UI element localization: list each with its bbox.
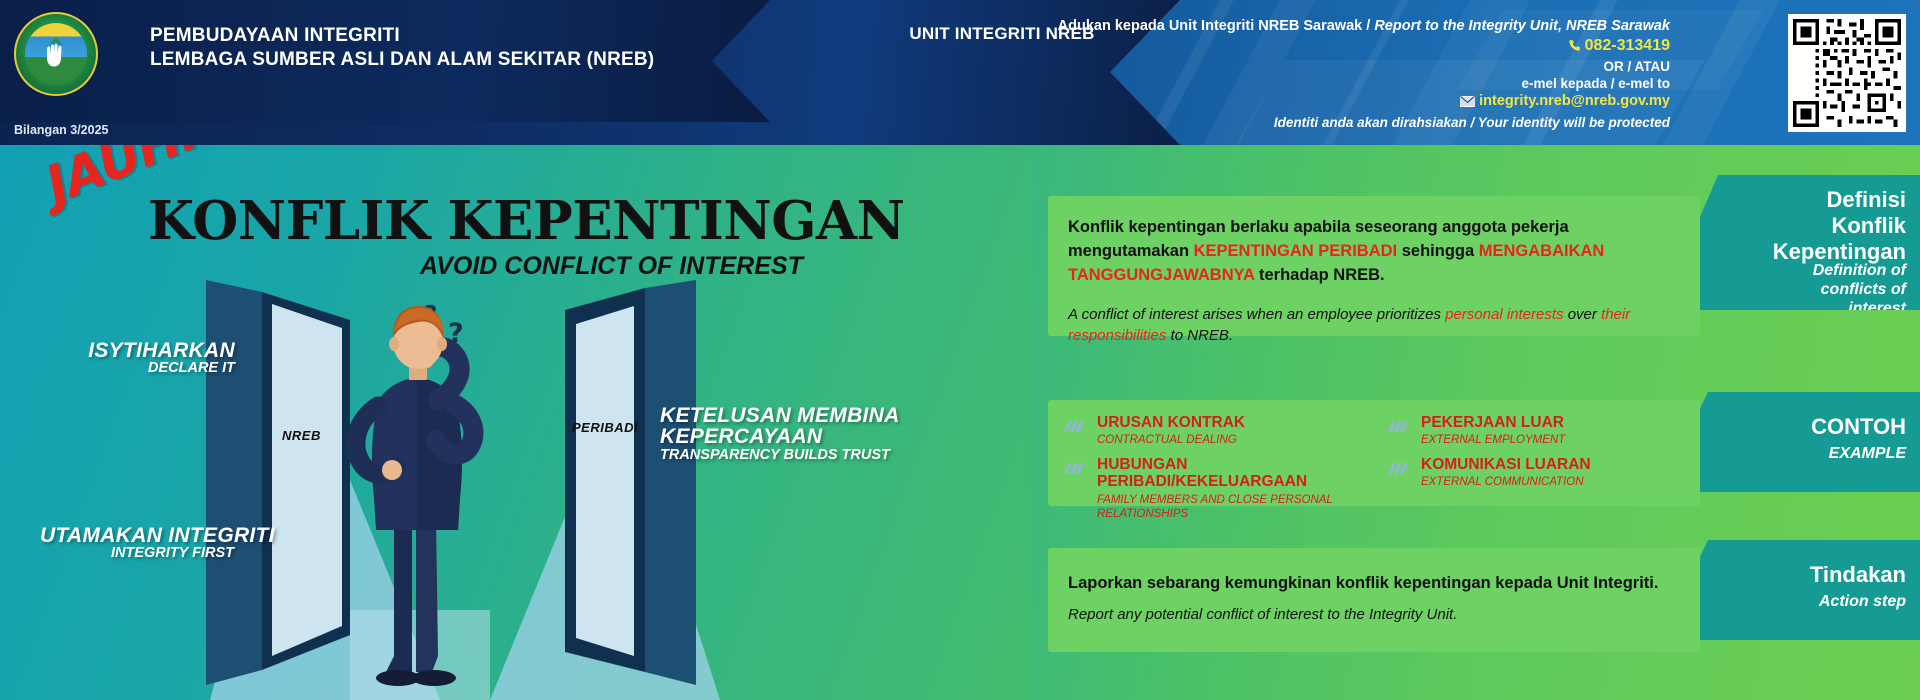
header-confidential-note: Identiti anda akan dirahsiakan / Your id…	[1030, 115, 1670, 130]
triple-slash-bullet-icon	[1390, 414, 1412, 447]
example-label-english: EXTERNAL EMPLOYMENT	[1421, 433, 1565, 447]
example-label-malay: KOMUNIKASI LUARAN	[1421, 456, 1591, 473]
label-integrity-first: UTAMAKAN INTEGRITI INTEGRITY FIRST	[40, 525, 300, 561]
door-label-right: PERIBADI	[572, 420, 638, 435]
definition-my-part2: sehingga	[1397, 242, 1479, 260]
side-tab-example-subtitle: EXAMPLE	[1829, 444, 1906, 463]
header-email-label: e-mel kepada / e-mel to	[1030, 76, 1670, 91]
phone-icon	[1568, 39, 1581, 57]
label-transparency-builds-trust: KETELUSAN MEMBINA KEPERCAYAAN TRANSPAREN…	[660, 405, 960, 463]
page-title: KONFLIK KEPENTINGAN	[148, 190, 905, 252]
label-declare-it-english: DECLARE IT	[55, 361, 235, 376]
definition-en-highlight1: personal interests	[1445, 306, 1563, 323]
side-tab-definition-subtitle: Definition of conflicts of interest	[1813, 261, 1906, 319]
header-contact-block: Adukan kepada Unit Integriti NREB Sarawa…	[1030, 18, 1670, 130]
nreb-crest-icon	[14, 12, 98, 96]
hand-and-plant-icon	[41, 33, 71, 71]
definition-en-part2: over	[1564, 306, 1602, 323]
definition-my-highlight1: KEPENTINGAN PERIBADI	[1194, 242, 1398, 260]
action-text-malay: Laporkan sebarang kemungkinan konflik ke…	[1068, 574, 1658, 593]
side-tab-definition-title: Definisi Konflik Kepentingan	[1773, 187, 1906, 265]
triple-slash-bullet-icon	[1066, 414, 1088, 447]
definition-my-part3: terhadap NREB.	[1254, 266, 1384, 284]
header-phone[interactable]: 082-313419	[1030, 37, 1670, 57]
side-tab-definition-title-line2: Konflik	[1773, 213, 1906, 239]
example-label-english: CONTRACTUAL DEALING	[1097, 433, 1245, 447]
side-tab-definition-title-line1: Definisi	[1773, 187, 1906, 213]
side-tab-definition-subtitle-line2: conflicts of	[1813, 280, 1906, 299]
header-phone-number: 082-313419	[1585, 37, 1670, 54]
header-or-line: OR / ATAU	[1030, 59, 1670, 74]
label-declare-it-malay: ISYTIHARKAN	[55, 340, 235, 361]
header-org-line1: PEMBUDAYAAN INTEGRITI	[150, 24, 654, 48]
definition-text-malay: Konflik kepentingan berlaku apabila sese…	[1068, 216, 1682, 287]
label-transparency-malay-line1: KETELUSAN MEMBINA	[660, 405, 960, 426]
example-item: HUBUNGAN PERIBADI/KEKELUARGAAN FAMILY ME…	[1066, 456, 1366, 521]
action-card: Laporkan sebarang kemungkinan konflik ke…	[1048, 548, 1700, 652]
header-report-line: Adukan kepada Unit Integriti NREB Sarawa…	[1030, 18, 1670, 34]
example-label-english: FAMILY MEMBERS AND CLOSE PERSONAL RELATI…	[1097, 493, 1366, 522]
definition-en-part1: A conflict of interest arises when an em…	[1068, 306, 1445, 323]
action-text-english: Report any potential conflict of interes…	[1068, 606, 1457, 623]
label-integrity-first-malay: UTAMAKAN INTEGRITI	[40, 525, 300, 546]
triple-slash-bullet-icon	[1066, 456, 1088, 521]
definition-card: Konflik kepentingan berlaku apabila sese…	[1048, 196, 1700, 336]
examples-column-right: PEKERJAAN LUAR EXTERNAL EMPLOYMENT KOMUN…	[1390, 414, 1690, 530]
header-org-line2: LEMBAGA SUMBER ASLI DAN ALAM SEKITAR (NR…	[150, 48, 654, 72]
examples-column-left: URUSAN KONTRAK CONTRACTUAL DEALING HUBUN…	[1066, 414, 1366, 530]
header-email-address: integrity.nreb@nreb.gov.my	[1479, 93, 1670, 109]
side-tab-example-title: CONTOH	[1811, 414, 1906, 440]
example-item: URUSAN KONTRAK CONTRACTUAL DEALING	[1066, 414, 1366, 447]
header-report-line-malay: Adukan kepada Unit Integriti NREB Sarawa…	[1058, 18, 1375, 34]
example-label-malay: PEKERJAAN LUAR	[1421, 414, 1565, 431]
example-item: PEKERJAAN LUAR EXTERNAL EMPLOYMENT	[1390, 414, 1690, 447]
side-tab-definition-subtitle-line1: Definition of	[1813, 261, 1906, 280]
header-report-line-english: Report to the Integrity Unit, NREB Saraw…	[1374, 18, 1670, 34]
definition-text-english: A conflict of interest arises when an em…	[1068, 304, 1682, 346]
example-label-malay: URUSAN KONTRAK	[1097, 414, 1245, 431]
example-item: KOMUNIKASI LUARAN EXTERNAL COMMUNICATION	[1390, 456, 1690, 489]
examples-grid: URUSAN KONTRAK CONTRACTUAL DEALING HUBUN…	[1066, 414, 1690, 530]
label-integrity-first-english: INTEGRITY FIRST	[40, 546, 300, 561]
label-declare-it: ISYTIHARKAN DECLARE IT	[55, 340, 235, 376]
label-transparency-english: TRANSPARENCY BUILDS TRUST	[660, 448, 960, 463]
infographic-poster: Definisi Konflik Kepentingan Definition …	[0, 0, 1920, 700]
bulletin-number: Bilangan 3/2025	[14, 123, 109, 137]
example-label-malay: HUBUNGAN PERIBADI/KEKELUARGAAN	[1097, 456, 1366, 490]
examples-card: URUSAN KONTRAK CONTRACTUAL DEALING HUBUN…	[1048, 400, 1700, 506]
label-transparency-malay-line2: KEPERCAYAAN	[660, 426, 960, 447]
header-email[interactable]: integrity.nreb@nreb.gov.my	[1030, 93, 1670, 111]
example-label-english: EXTERNAL COMMUNICATION	[1421, 475, 1591, 489]
qr-code-svg	[1793, 19, 1901, 127]
page-header: PEMBUDAYAAN INTEGRITI LEMBAGA SUMBER ASL…	[0, 0, 1920, 145]
side-tab-action-title: Tindakan	[1810, 562, 1906, 588]
side-tab-action-subtitle: Action step	[1819, 592, 1906, 611]
header-org-title: PEMBUDAYAAN INTEGRITI LEMBAGA SUMBER ASL…	[150, 24, 654, 73]
door-label-left: NREB	[282, 428, 321, 443]
envelope-icon	[1460, 95, 1475, 111]
triple-slash-bullet-icon	[1390, 456, 1412, 489]
qr-code-icon[interactable]	[1788, 14, 1906, 132]
definition-en-part3: to NREB.	[1166, 327, 1233, 344]
page-subtitle: AVOID CONFLICT OF INTEREST	[420, 252, 803, 281]
